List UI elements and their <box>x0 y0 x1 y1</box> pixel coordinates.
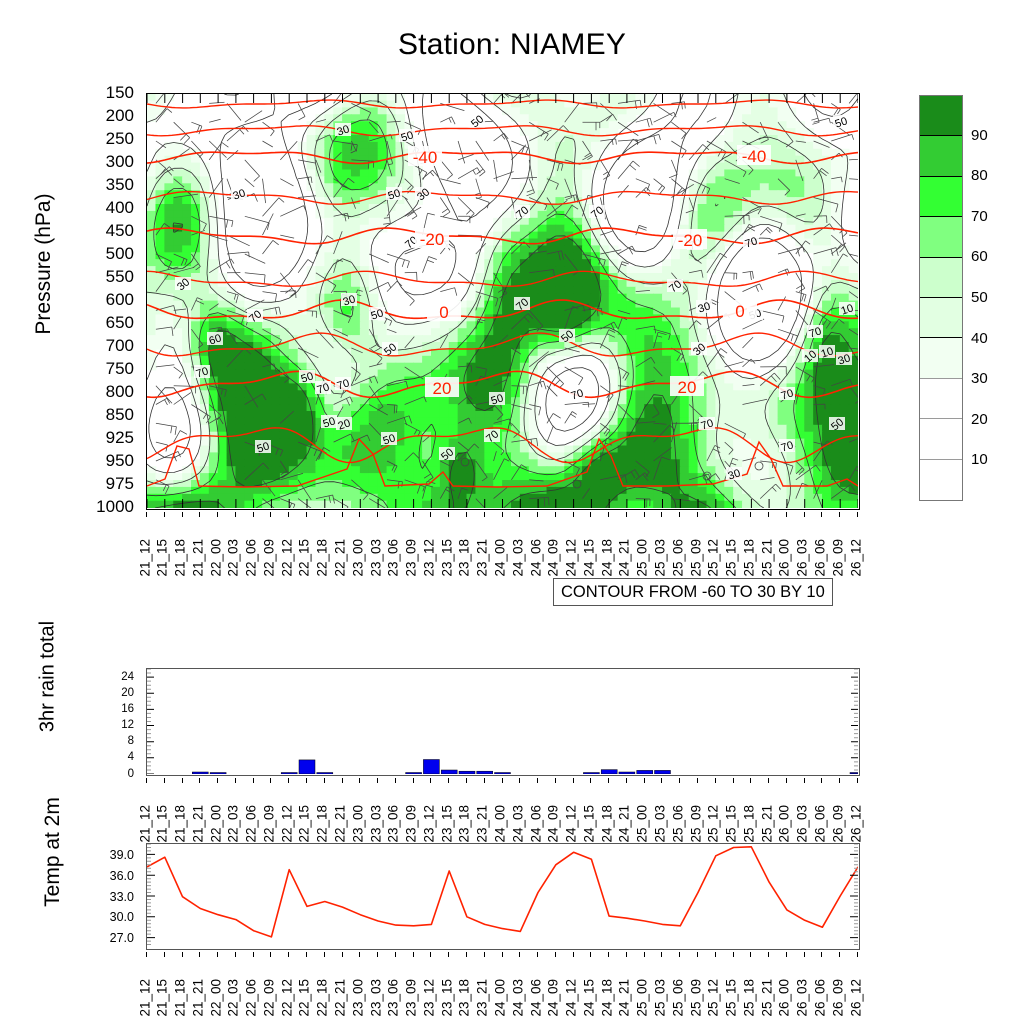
humidity-cell <box>475 418 485 426</box>
humidity-cell <box>662 473 672 481</box>
humidity-cell <box>520 411 530 419</box>
humidity-cell <box>315 273 325 281</box>
humidity-cell <box>342 473 352 481</box>
humidity-cell <box>831 466 841 474</box>
y-axis-label: 550 <box>90 268 134 285</box>
rain-bar <box>601 770 617 774</box>
humidity-cell <box>529 432 539 440</box>
humidity-cell <box>813 411 823 419</box>
humidity-cell <box>520 273 530 281</box>
humidity-cell <box>564 308 574 316</box>
x-axis-label: 22_21 <box>334 804 348 842</box>
humidity-cell <box>475 439 485 447</box>
humidity-cell <box>520 266 530 274</box>
humidity-cell <box>333 494 343 502</box>
humidity-cell <box>742 190 752 198</box>
humidity-cell <box>618 301 628 309</box>
humidity-cell <box>573 501 583 508</box>
humidity-cell <box>840 501 850 508</box>
humidity-cell <box>511 439 521 447</box>
humidity-cell <box>413 397 423 405</box>
humidity-cell <box>458 383 468 391</box>
humidity-cell <box>200 487 210 495</box>
humidity-cell <box>511 107 521 115</box>
humidity-cell <box>307 287 317 295</box>
humidity-cell <box>155 301 165 309</box>
colorbar-label: 60 <box>971 249 988 264</box>
x-tick <box>306 778 307 783</box>
humidity-cell <box>227 446 237 454</box>
humidity-cell <box>707 176 717 184</box>
humidity-cell <box>147 183 156 191</box>
y-axis-label: 975 <box>90 475 134 492</box>
humidity-cell <box>822 487 832 495</box>
x-tick <box>430 778 431 783</box>
x-axis-label: 25_15 <box>725 538 739 576</box>
humidity-cell <box>733 390 743 398</box>
rain-y-axis-label: 0 <box>94 769 134 781</box>
humidity-cell <box>724 487 734 495</box>
humidity-cell <box>724 218 734 226</box>
humidity-cell <box>413 363 423 371</box>
humidity-cell <box>680 425 690 433</box>
humidity-cell <box>795 501 805 508</box>
humidity-cell <box>404 501 414 508</box>
humidity-cell <box>742 107 752 115</box>
humidity-cell <box>440 335 450 343</box>
humidity-cell <box>627 308 637 316</box>
humidity-cell <box>769 170 779 178</box>
humidity-cell <box>502 259 512 267</box>
humidity-cell <box>787 204 797 212</box>
humidity-cell <box>342 370 352 378</box>
rain-bar <box>459 771 475 774</box>
humidity-cell <box>458 328 468 336</box>
humidity-cell <box>173 239 183 247</box>
humidity-cell <box>787 156 797 164</box>
humidity-cell <box>449 439 459 447</box>
humidity-cell <box>467 294 477 302</box>
humidity-cell <box>493 356 503 364</box>
humidity-cell <box>502 328 512 336</box>
humidity-cell <box>689 501 699 508</box>
humidity-cell <box>351 156 361 164</box>
humidity-cell <box>600 459 610 467</box>
humidity-cell <box>822 494 832 502</box>
humidity-cell <box>733 170 743 178</box>
humidity-cell <box>591 480 601 488</box>
x-tick <box>679 512 680 517</box>
humidity-cell <box>315 459 325 467</box>
humidity-cell <box>653 294 663 302</box>
temperature-line-panel <box>146 843 860 950</box>
humidity-cell <box>644 342 654 350</box>
humidity-cell <box>520 466 530 474</box>
humidity-cell <box>173 245 183 253</box>
humidity-cell <box>467 494 477 502</box>
humidity-cell <box>760 101 770 109</box>
humidity-cell <box>671 321 681 329</box>
x-axis-label: 24_15 <box>582 978 596 1016</box>
humidity-cell <box>609 377 619 385</box>
humidity-cell <box>280 439 290 447</box>
humidity-cell <box>849 459 858 467</box>
y-axis-label: 500 <box>90 245 134 262</box>
humidity-cell <box>538 308 548 316</box>
humidity-cell <box>182 335 192 343</box>
humidity-cell <box>840 259 850 267</box>
x-tick <box>857 512 858 517</box>
humidity-cell <box>547 321 557 329</box>
x-tick <box>750 778 751 783</box>
humidity-cell <box>360 328 370 336</box>
humidity-cell <box>742 480 752 488</box>
x-tick <box>519 778 520 783</box>
x-axis-label: 25_06 <box>671 804 685 842</box>
humidity-cell <box>822 370 832 378</box>
humidity-cell <box>680 446 690 454</box>
x-tick <box>573 512 574 517</box>
humidity-cell <box>147 342 156 350</box>
humidity-cell <box>564 280 574 288</box>
humidity-cell <box>253 459 263 467</box>
x-axis-label: 26_03 <box>796 804 810 842</box>
humidity-cell <box>724 377 734 385</box>
humidity-cell <box>253 370 263 378</box>
humidity-cell <box>404 494 414 502</box>
humidity-cell <box>618 494 628 502</box>
humidity-cell <box>387 501 397 508</box>
x-tick <box>182 512 183 517</box>
humidity-cell <box>582 176 592 184</box>
y-axis-label: 925 <box>90 429 134 446</box>
humidity-cell <box>813 163 823 171</box>
humidity-cell <box>520 446 530 454</box>
humidity-cell <box>689 466 699 474</box>
humidity-cell <box>653 314 663 322</box>
x-tick <box>182 952 183 957</box>
humidity-cell <box>164 197 174 205</box>
rain-bar <box>406 773 422 775</box>
humidity-cell <box>369 480 379 488</box>
humidity-cell <box>555 259 565 267</box>
humidity-cell <box>724 135 734 143</box>
humidity-cell <box>404 390 414 398</box>
humidity-cell <box>484 356 494 364</box>
humidity-cell <box>307 390 317 398</box>
humidity-cell <box>564 487 574 495</box>
humidity-cell <box>707 494 717 502</box>
humidity-cell <box>822 252 832 260</box>
humidity-cell <box>484 473 494 481</box>
humidity-cell <box>804 404 814 412</box>
humidity-cell <box>564 149 574 157</box>
rain-bar <box>299 760 315 774</box>
humidity-cell <box>484 308 494 316</box>
humidity-cell <box>609 370 619 378</box>
humidity-cell <box>769 101 779 109</box>
x-axis-label: 24_15 <box>582 804 596 842</box>
humidity-cell <box>635 370 645 378</box>
humidity-cell <box>502 411 512 419</box>
humidity-cell <box>573 259 583 267</box>
humidity-cell <box>147 204 156 212</box>
humidity-cell <box>440 363 450 371</box>
humidity-cell <box>511 487 521 495</box>
humidity-cell <box>733 446 743 454</box>
humidity-cell <box>218 487 228 495</box>
x-axis-label: 23_15 <box>440 538 454 576</box>
humidity-cell <box>147 487 156 495</box>
humidity-cell <box>600 280 610 288</box>
humidity-cell <box>627 377 637 385</box>
humidity-cell <box>493 487 503 495</box>
humidity-cell <box>280 390 290 398</box>
rain-y-axis: 04812162024 <box>96 668 140 776</box>
humidity-cell <box>484 501 494 508</box>
humidity-cell <box>698 452 708 460</box>
humidity-cell <box>787 149 797 157</box>
humidity-cell <box>707 439 717 447</box>
humidity-cell <box>680 473 690 481</box>
humidity-cell <box>715 211 725 219</box>
humidity-cell <box>627 418 637 426</box>
humidity-cell <box>200 239 210 247</box>
humidity-cell <box>173 328 183 336</box>
humidity-cell <box>378 487 388 495</box>
humidity-cell <box>822 383 832 391</box>
humidity-cell <box>609 94 619 101</box>
humidity-cell <box>369 411 379 419</box>
x-tick <box>661 952 662 957</box>
humidity-cell <box>644 501 654 508</box>
humidity-cell <box>840 390 850 398</box>
humidity-cell <box>831 170 841 178</box>
x-axis-label: 22_00 <box>209 538 223 576</box>
humidity-cell <box>511 383 521 391</box>
humidity-cell <box>378 363 388 371</box>
humidity-cell <box>778 425 788 433</box>
rain-bar <box>281 773 297 775</box>
humidity-cell <box>280 411 290 419</box>
humidity-cell <box>538 459 548 467</box>
humidity-cell <box>538 149 548 157</box>
humidity-cell <box>751 480 761 488</box>
humidity-cell <box>751 183 761 191</box>
x-axis-label: 23_06 <box>387 978 401 1016</box>
humidity-cell <box>662 439 672 447</box>
humidity-cell <box>715 494 725 502</box>
humidity-cell <box>564 252 574 260</box>
humidity-cell <box>849 370 858 378</box>
humidity-cell <box>733 383 743 391</box>
x-tick <box>750 512 751 517</box>
humidity-cell <box>484 446 494 454</box>
humidity-cell <box>635 411 645 419</box>
svg-text:20: 20 <box>433 379 452 398</box>
humidity-cell <box>680 301 690 309</box>
humidity-cell <box>849 446 858 454</box>
humidity-cell <box>440 404 450 412</box>
humidity-cell <box>182 294 192 302</box>
y-axis-label: 650 <box>90 314 134 331</box>
humidity-cell <box>591 149 601 157</box>
humidity-cell <box>209 356 219 364</box>
humidity-cell <box>831 446 841 454</box>
humidity-cell <box>200 446 210 454</box>
x-tick <box>466 512 467 517</box>
humidity-cell <box>262 301 272 309</box>
humidity-cell <box>547 114 557 122</box>
humidity-cell <box>440 370 450 378</box>
x-tick <box>661 512 662 517</box>
humidity-cell <box>822 176 832 184</box>
humidity-cell <box>155 314 165 322</box>
humidity-cell <box>378 107 388 115</box>
humidity-cell <box>564 287 574 295</box>
x-tick <box>359 778 360 783</box>
humidity-cell <box>804 487 814 495</box>
humidity-cell <box>493 459 503 467</box>
humidity-cell <box>360 383 370 391</box>
humidity-cell <box>209 259 219 267</box>
x-tick <box>199 952 200 957</box>
humidity-cell <box>769 432 779 440</box>
humidity-cell <box>564 176 574 184</box>
humidity-cell <box>493 363 503 371</box>
humidity-cell <box>627 494 637 502</box>
humidity-cell <box>475 349 485 357</box>
humidity-cell <box>555 280 565 288</box>
humidity-cell <box>653 383 663 391</box>
humidity-cell <box>564 259 574 267</box>
x-tick <box>519 512 520 517</box>
humidity-cell <box>671 439 681 447</box>
x-axis-label: 21_12 <box>138 804 152 842</box>
humidity-cell <box>431 321 441 329</box>
humidity-cell <box>555 225 565 233</box>
isotherm-label: 0 <box>723 300 757 321</box>
humidity-cell <box>218 459 228 467</box>
humidity-cell <box>600 466 610 474</box>
humidity-cell <box>822 328 832 336</box>
humidity-cell <box>698 266 708 274</box>
humidity-cell <box>218 494 228 502</box>
humidity-cell <box>147 321 156 329</box>
humidity-cell <box>813 377 823 385</box>
humidity-cell <box>680 328 690 336</box>
humidity-cell <box>840 287 850 295</box>
temp-y-axis-label: 27.0 <box>90 932 134 945</box>
humidity-cell <box>715 170 725 178</box>
humidity-cell <box>422 397 432 405</box>
humidity-cell <box>378 211 388 219</box>
x-axis-label: 26_00 <box>778 978 792 1016</box>
humidity-cell <box>307 466 317 474</box>
humidity-cell <box>387 114 397 122</box>
humidity-cell <box>315 252 325 260</box>
humidity-cell <box>804 501 814 508</box>
humidity-cell <box>200 273 210 281</box>
humidity-cell <box>591 487 601 495</box>
humidity-cell <box>147 501 156 508</box>
rain-bar <box>317 773 333 775</box>
humidity-cell <box>271 397 281 405</box>
humidity-cell <box>742 439 752 447</box>
humidity-cell <box>271 383 281 391</box>
humidity-cell <box>529 335 539 343</box>
x-axis-label: 21_21 <box>191 804 205 842</box>
humidity-cell <box>173 197 183 205</box>
humidity-cell <box>635 335 645 343</box>
humidity-cell <box>413 446 423 454</box>
rain-bar <box>192 772 208 774</box>
x-tick <box>733 512 734 517</box>
humidity-cell <box>307 163 317 171</box>
humidity-cell <box>395 321 405 329</box>
humidity-cell <box>395 452 405 460</box>
x-axis-label: 23_00 <box>351 804 365 842</box>
humidity-cell <box>360 176 370 184</box>
x-axis-label: 26_09 <box>831 804 845 842</box>
humidity-cell <box>662 301 672 309</box>
x-tick <box>555 512 556 517</box>
humidity-cell <box>262 321 272 329</box>
humidity-cell <box>218 356 228 364</box>
humidity-cell <box>529 501 539 508</box>
humidity-cell <box>360 314 370 322</box>
x-tick <box>733 952 734 957</box>
humidity-cell <box>324 190 334 198</box>
colorbar-label: 90 <box>971 128 988 143</box>
humidity-cell <box>209 370 219 378</box>
humidity-cell <box>440 480 450 488</box>
humidity-cell <box>635 446 645 454</box>
humidity-cell <box>591 425 601 433</box>
humidity-cell <box>173 342 183 350</box>
humidity-cell <box>404 446 414 454</box>
humidity-cell <box>555 321 565 329</box>
humidity-cell <box>440 397 450 405</box>
humidity-cell <box>289 439 299 447</box>
humidity-cell <box>618 328 628 336</box>
humidity-cell <box>404 328 414 336</box>
humidity-cell <box>449 335 459 343</box>
x-axis-label: 25_06 <box>671 978 685 1016</box>
humidity-cell <box>724 204 734 212</box>
humidity-cell <box>769 473 779 481</box>
humidity-cell <box>804 163 814 171</box>
humidity-cell <box>351 245 361 253</box>
humidity-cell <box>582 480 592 488</box>
humidity-cell <box>235 459 245 467</box>
x-axis-label: 21_15 <box>156 538 170 576</box>
humidity-cell <box>298 390 308 398</box>
humidity-cell <box>387 397 397 405</box>
humidity-cell <box>715 363 725 371</box>
humidity-cell <box>680 439 690 447</box>
humidity-cell <box>609 418 619 426</box>
humidity-cell <box>209 204 219 212</box>
humidity-cell <box>235 411 245 419</box>
humidity-cell <box>520 183 530 191</box>
humidity-cell <box>502 404 512 412</box>
humidity-cell <box>627 335 637 343</box>
x-axis-label: 25_18 <box>742 804 756 842</box>
humidity-cell <box>609 121 619 129</box>
humidity-cell <box>591 107 601 115</box>
humidity-cell <box>795 204 805 212</box>
